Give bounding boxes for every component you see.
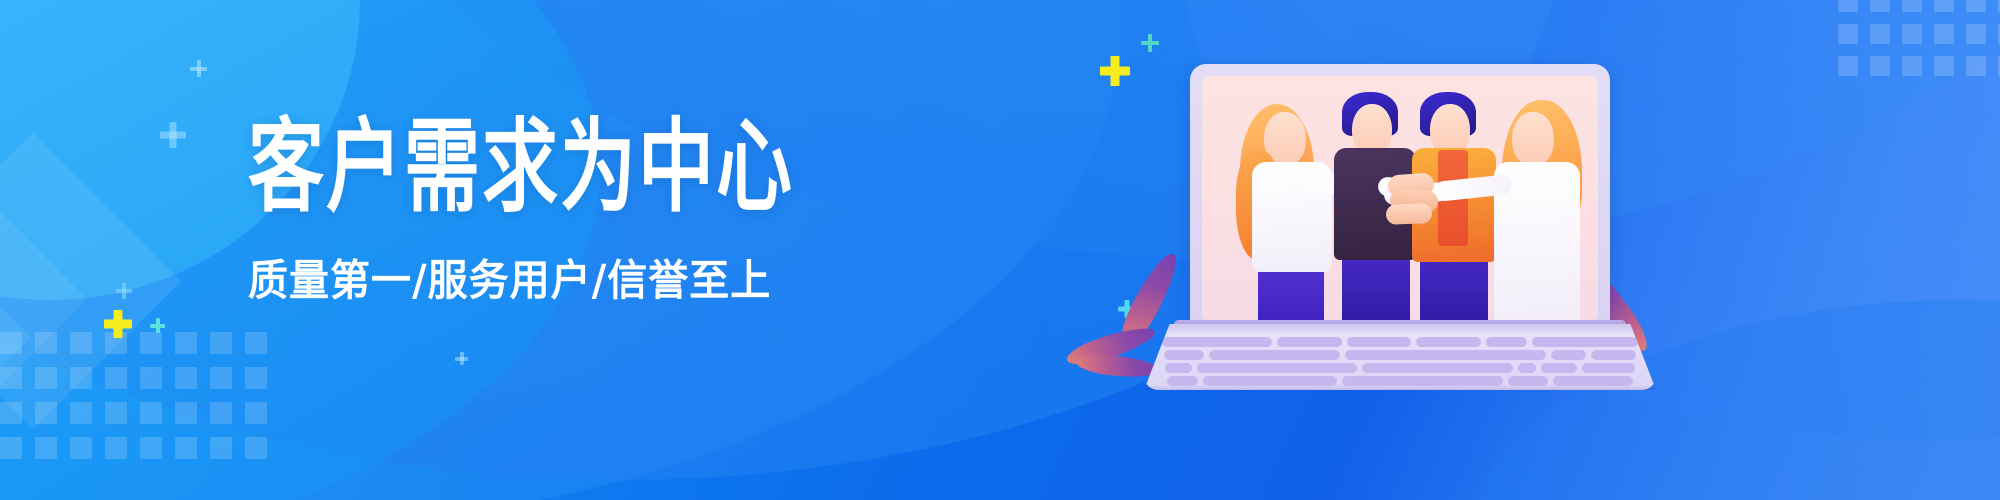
laptop-key: [1362, 363, 1513, 373]
plus-small-cyan-left-icon: [150, 318, 165, 333]
plus-faint-lower-icon: [116, 283, 132, 299]
plus-small-cyan-icon: [1141, 34, 1159, 52]
laptop-key: [1518, 363, 1536, 373]
page-title: 客户需求为中心: [248, 112, 928, 222]
laptop-key: [1508, 376, 1548, 386]
laptop-key: [1541, 363, 1577, 373]
laptop-key: [1551, 350, 1586, 360]
laptop-key: [1199, 389, 1242, 399]
laptop-key: [1164, 350, 1204, 360]
laptop-key: [1486, 337, 1527, 347]
laptop-key: [1571, 389, 1632, 399]
laptop-screen: [1202, 76, 1598, 322]
diamond-outline-medium: [0, 179, 87, 419]
laptop-key: [1591, 350, 1636, 360]
laptop-key: [1247, 389, 1342, 399]
diamond-outline-large: [0, 133, 181, 430]
laptop-key: [1505, 389, 1566, 399]
laptop-lid: [1190, 64, 1610, 332]
laptop-key: [1553, 376, 1633, 386]
laptop-keyboard-base: [1144, 324, 1656, 390]
laptop-key: [1345, 350, 1546, 360]
plus-medium-yellow-icon: [104, 310, 132, 338]
laptop-key: [1209, 350, 1340, 360]
laptop-key: [1162, 337, 1272, 347]
page-subtitle: 质量第一/服务用户/信誉至上: [248, 246, 928, 307]
laptop-key: [1582, 363, 1635, 373]
laptop-key: [1532, 337, 1638, 347]
copy-block: 客户需求为中心 质量第一/服务用户/信誉至上: [248, 112, 928, 304]
plus-faint-mid-icon: [160, 122, 186, 148]
laptop-key: [1466, 389, 1501, 399]
laptop-key: [1165, 363, 1192, 373]
laptop-key: [1416, 337, 1480, 347]
laptop-key: [1203, 376, 1337, 386]
plus-large-yellow-icon: [1100, 56, 1130, 86]
laptop-key: [1167, 376, 1198, 386]
laptop-key: [1277, 337, 1341, 347]
laptop-illustration: [1130, 52, 1690, 442]
laptop-key: [1347, 337, 1411, 347]
laptop-key: [1348, 389, 1461, 399]
plus-tiny-mid-icon: [455, 352, 468, 365]
laptop-key: [1342, 376, 1503, 386]
laptop-key: [1168, 389, 1194, 399]
laptop-key: [1197, 363, 1357, 373]
promo-banner: 客户需求为中心 质量第一/服务用户/信誉至上: [0, 0, 2000, 500]
leaf-left-lower: [1075, 352, 1161, 381]
diamond-outline-small: [0, 231, 31, 443]
plus-faint-upper-icon: [190, 60, 207, 77]
